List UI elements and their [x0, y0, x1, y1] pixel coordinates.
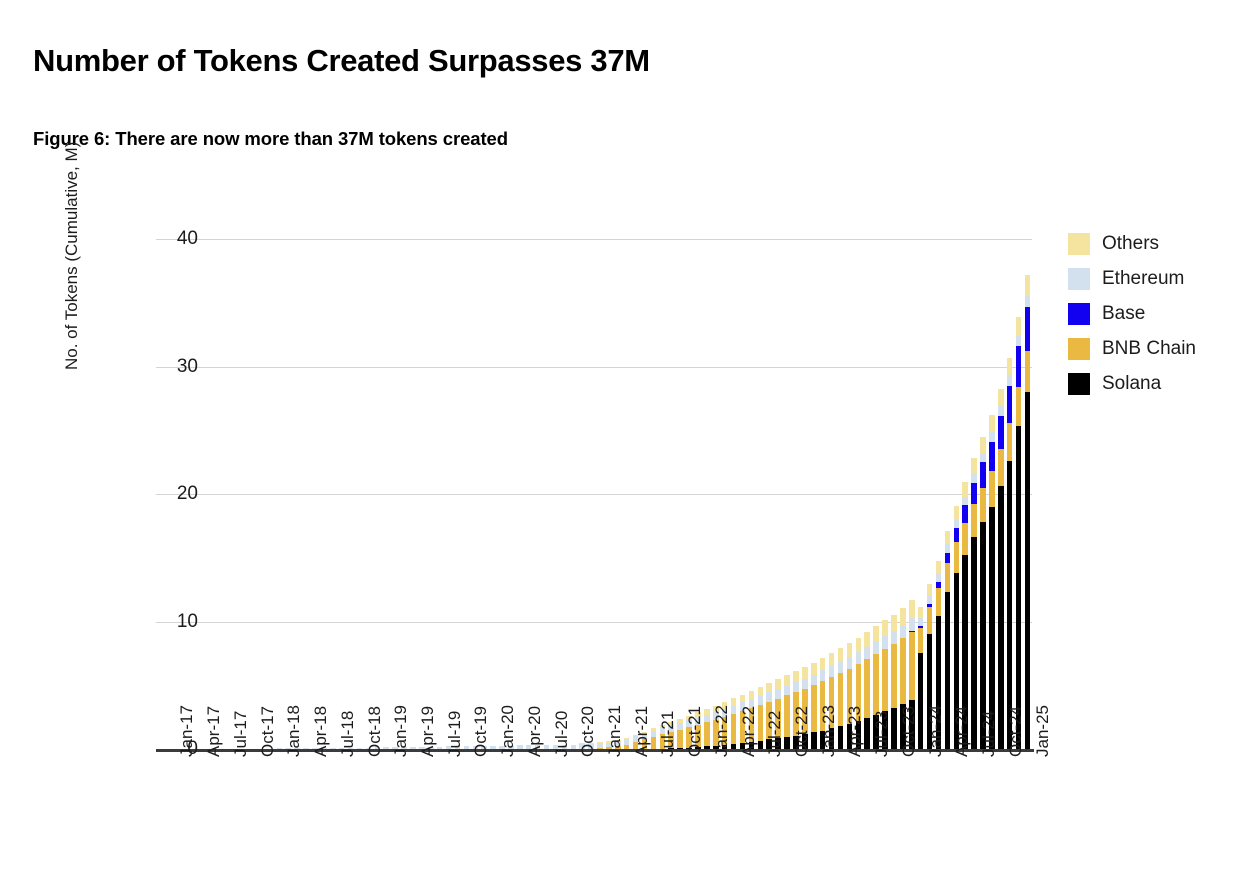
bar-column — [615, 239, 621, 749]
bar-column — [383, 239, 389, 749]
bar-column — [170, 239, 176, 749]
bar-column — [998, 239, 1004, 749]
bar-segment-ethereum — [829, 666, 835, 677]
bar-column — [704, 239, 710, 749]
bar-segment-ethereum — [802, 679, 808, 689]
bar-segment-ethereum — [793, 682, 799, 692]
x-tick-label: Jan-18 — [285, 705, 302, 757]
x-tick-label: Apr-19 — [419, 706, 436, 757]
bar-segment-others — [802, 667, 808, 678]
bar-column — [579, 239, 585, 749]
bar-segment-solana — [811, 732, 817, 749]
bar-column — [633, 239, 639, 749]
bar-column — [775, 239, 781, 749]
bar-column — [437, 239, 443, 749]
bar-segment-bnb-chain — [945, 563, 951, 592]
bar-column — [223, 239, 229, 749]
bar-segment-bnb-chain — [909, 632, 915, 700]
x-tick-label: Apr-21 — [633, 706, 650, 757]
bar-column — [357, 239, 363, 749]
bar-segment-ethereum — [945, 544, 951, 552]
legend-swatch-icon — [1068, 233, 1090, 255]
bar-segment-bnb-chain — [882, 649, 888, 711]
bar-column — [713, 239, 719, 749]
legend-item-ethereum[interactable]: Ethereum — [1068, 261, 1248, 296]
bar-column — [526, 239, 532, 749]
bar-column — [820, 239, 826, 749]
bar-segment-bnb-chain — [900, 638, 906, 704]
bar-segment-ethereum — [820, 670, 826, 681]
bar-segment-others — [740, 695, 746, 703]
bar-segment-others — [891, 615, 897, 631]
bar-column — [499, 239, 505, 749]
y-axis-tick — [156, 622, 168, 623]
bar-column — [847, 239, 853, 749]
bar-column — [410, 239, 416, 749]
bar-segment-bnb-chain — [927, 607, 933, 634]
bar-column — [588, 239, 594, 749]
x-tick-label: Oct-19 — [472, 706, 489, 757]
bar-segment-others — [936, 561, 942, 574]
x-tick-label: Apr-24 — [953, 706, 970, 757]
bar-segment-ethereum — [624, 739, 630, 744]
bar-column — [606, 239, 612, 749]
bar-column — [375, 239, 381, 749]
bar-column — [802, 239, 808, 749]
y-axis-tick — [156, 367, 168, 368]
bar-column — [829, 239, 835, 749]
bar-segment-others — [962, 482, 968, 497]
bar-segment-others — [597, 742, 603, 743]
bar-segment-ethereum — [1016, 336, 1022, 346]
bar-column — [962, 239, 968, 749]
bar-column — [428, 239, 434, 749]
bar-segment-base — [989, 442, 995, 471]
bar-segment-ethereum — [838, 662, 844, 673]
bar-column — [348, 239, 354, 749]
bar-column — [660, 239, 666, 749]
bar-segment-bnb-chain — [980, 488, 986, 522]
bar-column — [722, 239, 728, 749]
x-tick-label: Jan-24 — [927, 705, 944, 757]
bar-segment-bnb-chain — [962, 523, 968, 555]
bar-column — [873, 239, 879, 749]
x-tick-label: Apr-17 — [205, 706, 222, 757]
bar-segment-others — [873, 626, 879, 641]
bar-column — [250, 239, 256, 749]
bar-column — [330, 239, 336, 749]
bar-segment-solana — [945, 592, 951, 749]
x-tick-label: Jul-24 — [980, 711, 997, 757]
bar-column — [294, 239, 300, 749]
bar-segment-others — [1016, 317, 1022, 336]
x-tick-label: Apr-18 — [312, 706, 329, 757]
plot-area — [168, 239, 1032, 749]
figure-subtitle: Figure 6: There are now more than 37M to… — [33, 128, 508, 150]
bar-column — [517, 239, 523, 749]
bar-segment-base — [954, 528, 960, 542]
bar-column — [677, 239, 683, 749]
bar-column — [303, 239, 309, 749]
bar-segment-bnb-chain — [677, 730, 683, 748]
bar-column — [597, 239, 603, 749]
bar-segment-others — [882, 620, 888, 636]
legend-label: Solana — [1102, 373, 1161, 395]
chart-figure: Number of Tokens Created Surpasses 37M F… — [0, 0, 1249, 893]
legend-swatch-icon — [1068, 268, 1090, 290]
bar-segment-bnb-chain — [838, 673, 844, 726]
bar-segment-others — [1025, 275, 1031, 296]
x-tick-label: Jul-19 — [446, 711, 463, 757]
legend-swatch-icon — [1068, 303, 1090, 325]
bar-segment-base — [927, 604, 933, 608]
bar-segment-others — [838, 648, 844, 661]
bar-column — [749, 239, 755, 749]
bar-column — [490, 239, 496, 749]
x-tick-label: Jan-17 — [178, 705, 195, 757]
bar-column — [864, 239, 870, 749]
bar-segment-base — [971, 483, 977, 505]
bar-column — [205, 239, 211, 749]
bar-segment-others — [677, 719, 683, 723]
bar-column — [900, 239, 906, 749]
bar-segment-ethereum — [766, 692, 772, 701]
bar-column — [571, 239, 577, 749]
x-tick-label: Apr-23 — [846, 706, 863, 757]
bar-segment-solana — [891, 708, 897, 749]
y-tick-label: 20 — [177, 484, 198, 503]
bar-column — [339, 239, 345, 749]
chart-legend: OthersEthereumBaseBNB ChainSolana — [1068, 226, 1248, 401]
bar-segment-ethereum — [597, 743, 603, 748]
bar-column — [927, 239, 933, 749]
bar-column — [838, 239, 844, 749]
bar-segment-ethereum — [900, 625, 906, 638]
bar-column — [936, 239, 942, 749]
bar-column — [1007, 239, 1013, 749]
bar-segment-bnb-chain — [864, 659, 870, 718]
bar-segment-base — [998, 416, 1004, 449]
bar-column — [392, 239, 398, 749]
bar-column — [455, 239, 461, 749]
bar-segment-bnb-chain — [731, 714, 737, 744]
bar-segment-solana — [998, 486, 1004, 749]
bar-column — [980, 239, 986, 749]
bar-column — [366, 239, 372, 749]
bar-segment-others — [927, 584, 933, 596]
bar-segment-base — [936, 582, 942, 588]
bar-column — [811, 239, 817, 749]
bar-column — [686, 239, 692, 749]
bar-segment-others — [980, 437, 986, 453]
bar-segment-others — [766, 683, 772, 692]
y-axis-tick — [156, 494, 168, 495]
bar-column — [241, 239, 247, 749]
bar-column — [446, 239, 452, 749]
bar-column — [562, 239, 568, 749]
x-tick-label: Jul-18 — [339, 711, 356, 757]
bar-segment-ethereum — [1025, 296, 1031, 307]
bar-segment-others — [758, 687, 764, 696]
bar-segment-ethereum — [882, 636, 888, 649]
bar-segment-ethereum — [651, 731, 657, 737]
bar-column — [285, 239, 291, 749]
y-tick-label: 40 — [177, 229, 198, 248]
legend-item-solana[interactable]: Solana — [1068, 366, 1248, 401]
bar-column — [321, 239, 327, 749]
x-tick-label: Jul-20 — [553, 711, 570, 757]
y-tick-label: 30 — [177, 357, 198, 376]
bar-segment-others — [793, 671, 799, 682]
legend-label: Others — [1102, 233, 1159, 255]
bar-segment-base — [1007, 386, 1013, 423]
bar-column — [918, 239, 924, 749]
bar-segment-base — [1025, 307, 1031, 352]
legend-swatch-icon — [1068, 373, 1090, 395]
bar-column — [277, 239, 283, 749]
bar-segment-bnb-chain — [971, 504, 977, 537]
bar-segment-bnb-chain — [873, 654, 879, 715]
bar-segment-ethereum — [847, 657, 853, 669]
x-tick-label: Apr-22 — [740, 706, 757, 757]
bar-segment-bnb-chain — [1016, 387, 1022, 427]
x-tick-label: Jan-19 — [392, 705, 409, 757]
bar-segment-ethereum — [980, 453, 986, 462]
bar-column — [232, 239, 238, 749]
x-tick-label: Jul-22 — [766, 711, 783, 757]
x-tick-label: Oct-24 — [1007, 706, 1024, 757]
bar-segment-ethereum — [1007, 375, 1013, 385]
bar-column — [312, 239, 318, 749]
bar-segment-base — [1016, 346, 1022, 387]
bar-segment-ethereum — [811, 675, 817, 686]
bar-segment-others — [775, 679, 781, 689]
bar-segment-others — [731, 698, 737, 705]
bar-segment-ethereum — [731, 706, 737, 714]
bar-segment-others — [918, 607, 924, 618]
bar-segment-base — [962, 505, 968, 523]
legend-item-base[interactable]: Base — [1068, 296, 1248, 331]
bar-segment-bnb-chain — [1007, 423, 1013, 461]
y-axis-tick — [156, 239, 168, 240]
bar-column — [1025, 239, 1031, 749]
bar-segment-ethereum — [998, 406, 1004, 416]
bar-segment-ethereum — [954, 520, 960, 529]
bar-segment-others — [829, 653, 835, 666]
bar-segment-bnb-chain — [651, 737, 657, 749]
bar-segment-solana — [971, 537, 977, 749]
bar-column — [695, 239, 701, 749]
bar-segment-base — [918, 626, 924, 628]
bar-segment-others — [954, 506, 960, 520]
legend-label: BNB Chain — [1102, 338, 1196, 360]
bar-segment-bnb-chain — [998, 449, 1004, 486]
x-tick-label: Oct-18 — [366, 706, 383, 757]
bar-segment-solana — [864, 718, 870, 749]
bar-segment-ethereum — [864, 647, 870, 659]
bar-segment-ethereum — [989, 432, 995, 442]
x-tick-label: Jul-21 — [659, 711, 676, 757]
x-tick-label: Oct-20 — [579, 706, 596, 757]
bar-segment-ethereum — [909, 618, 915, 632]
bar-segment-ethereum — [677, 723, 683, 730]
bar-segment-others — [989, 415, 995, 432]
bar-column — [740, 239, 746, 749]
bar-segment-others — [811, 663, 817, 675]
bar-segment-ethereum — [927, 596, 933, 604]
bar-column — [553, 239, 559, 749]
bar-column — [214, 239, 220, 749]
bar-segment-base — [945, 553, 951, 563]
bar-segment-ethereum — [971, 473, 977, 482]
bar-segment-ethereum — [775, 689, 781, 699]
bar-column — [1016, 239, 1022, 749]
x-tick-label: Jul-23 — [873, 711, 890, 757]
bar-column — [882, 239, 888, 749]
bar-segment-others — [820, 658, 826, 670]
bar-column — [481, 239, 487, 749]
bar-segment-others — [900, 608, 906, 625]
bar-column — [945, 239, 951, 749]
bar-column — [731, 239, 737, 749]
bar-column — [651, 239, 657, 749]
y-axis-title: No. of Tokens (Cumulative, M) — [62, 142, 82, 370]
bar-segment-bnb-chain — [989, 471, 995, 507]
bar-column — [989, 239, 995, 749]
x-tick-label: Apr-20 — [526, 706, 543, 757]
legend-item-bnb-chain[interactable]: BNB Chain — [1068, 331, 1248, 366]
legend-item-others[interactable]: Others — [1068, 226, 1248, 261]
bar-segment-ethereum — [784, 686, 790, 696]
bar-column — [259, 239, 265, 749]
bar-column — [766, 239, 772, 749]
x-tick-label: Jan-22 — [713, 705, 730, 757]
bar-segment-others — [909, 600, 915, 617]
bar-segment-others — [847, 643, 853, 657]
bar-segment-others — [856, 638, 862, 652]
bar-segment-ethereum — [962, 497, 968, 506]
bar-segment-bnb-chain — [1025, 351, 1031, 392]
bar-column — [758, 239, 764, 749]
bar-segment-others — [864, 632, 870, 647]
bar-column — [642, 239, 648, 749]
bar-segment-solana — [838, 726, 844, 749]
bar-segment-ethereum — [873, 642, 879, 654]
x-tick-label: Jul-17 — [232, 711, 249, 757]
bar-segment-ethereum — [936, 574, 942, 582]
bar-segment-base — [980, 462, 986, 488]
bar-column — [508, 239, 514, 749]
bar-segment-solana — [1025, 392, 1031, 749]
bar-column — [535, 239, 541, 749]
bar-column — [784, 239, 790, 749]
bar-column — [891, 239, 897, 749]
bar-segment-bnb-chain — [936, 588, 942, 616]
bar-segment-others — [998, 389, 1004, 406]
y-tick-label: 10 — [177, 612, 198, 631]
bar-segment-others — [749, 691, 755, 699]
bar-segment-others — [651, 728, 657, 731]
bar-segment-bnb-chain — [954, 542, 960, 573]
bar-segment-ethereum — [918, 618, 924, 626]
bar-column — [401, 239, 407, 749]
bar-segment-others — [945, 531, 951, 544]
x-tick-label: Oct-23 — [900, 706, 917, 757]
x-tick-label: Jan-20 — [499, 705, 516, 757]
bar-segment-others — [704, 709, 710, 715]
x-tick-label: Oct-17 — [259, 706, 276, 757]
bar-segment-bnb-chain — [784, 695, 790, 736]
bar-segment-solana — [1016, 426, 1022, 749]
bar-segment-bnb-chain — [891, 644, 897, 708]
bar-column — [464, 239, 470, 749]
bar-segment-ethereum — [758, 696, 764, 705]
bar-segment-bnb-chain — [758, 705, 764, 741]
bar-column — [624, 239, 630, 749]
bar-segment-others — [784, 675, 790, 685]
page-title: Number of Tokens Created Surpasses 37M — [33, 43, 650, 79]
bar-segment-others — [971, 458, 977, 473]
x-tick-label: Oct-22 — [793, 706, 810, 757]
legend-label: Base — [1102, 303, 1145, 325]
x-tick-label: Jan-21 — [606, 705, 623, 757]
bar-segment-solana — [784, 737, 790, 749]
bar-column — [954, 239, 960, 749]
bar-segment-others — [624, 738, 630, 739]
bar-segment-bnb-chain — [918, 628, 924, 654]
bar-column — [473, 239, 479, 749]
bar-column — [668, 239, 674, 749]
bar-segment-solana — [758, 741, 764, 749]
bar-column — [268, 239, 274, 749]
bar-segment-ethereum — [704, 715, 710, 723]
legend-swatch-icon — [1068, 338, 1090, 360]
bar-column — [419, 239, 425, 749]
x-tick-label: Oct-21 — [686, 706, 703, 757]
legend-label: Ethereum — [1102, 268, 1184, 290]
bar-segment-bnb-chain — [704, 722, 710, 746]
bar-column — [544, 239, 550, 749]
bar-column — [856, 239, 862, 749]
x-tick-label: Jan-23 — [820, 705, 837, 757]
bar-column — [971, 239, 977, 749]
bar-segment-ethereum — [856, 652, 862, 664]
bar-segment-others — [1007, 358, 1013, 376]
bar-segment-ethereum — [891, 631, 897, 644]
bar-segment-bnb-chain — [811, 685, 817, 732]
bar-column — [909, 239, 915, 749]
bar-column — [793, 239, 799, 749]
x-tick-label: Jan-25 — [1034, 705, 1051, 757]
bar-segment-solana — [918, 653, 924, 749]
